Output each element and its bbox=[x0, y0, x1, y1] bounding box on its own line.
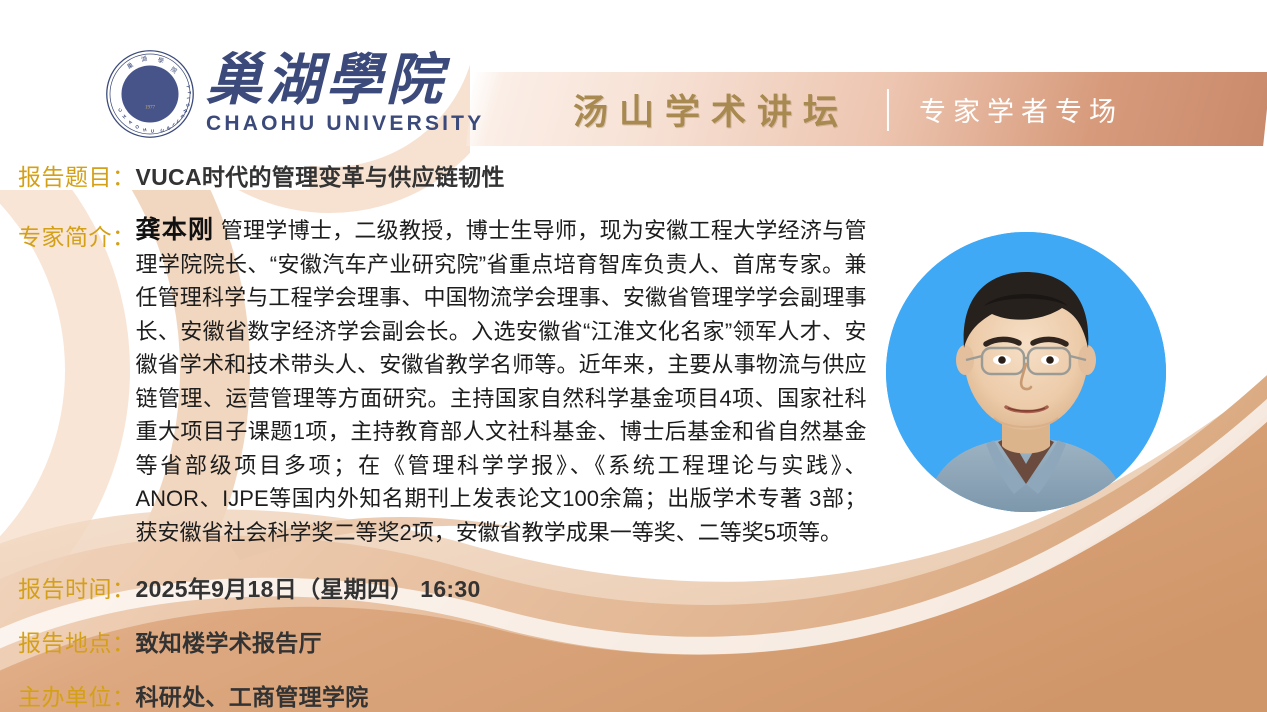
report-time-row: 报告时间： 2025年9月18日（星期四） 16:30 bbox=[18, 570, 481, 604]
report-title-label: 报告题目： bbox=[18, 158, 136, 192]
svg-text:U: U bbox=[151, 129, 155, 134]
forum-banner-inner: 汤山学术讲坛 专家学者专场 bbox=[573, 84, 1123, 135]
svg-text:巢: 巢 bbox=[125, 61, 135, 71]
forum-subtitle: 专家学者专场 bbox=[919, 90, 1123, 129]
report-time-label: 报告时间： bbox=[18, 570, 136, 604]
svg-text:O: O bbox=[135, 124, 141, 130]
report-title-value: VUCA时代的管理变革与供应链韧性 bbox=[136, 158, 505, 192]
svg-text:湖: 湖 bbox=[140, 54, 148, 63]
svg-text:Y: Y bbox=[185, 85, 190, 89]
report-title-row: 报告题目： VUCA时代的管理变革与供应链韧性 bbox=[18, 158, 505, 192]
forum-banner: 汤山学术讲坛 专家学者专场 bbox=[466, 72, 1267, 146]
svg-text:S: S bbox=[185, 103, 191, 108]
svg-text:U: U bbox=[160, 128, 165, 134]
speaker-bio-row: 专家简介： 龚本刚 管理学博士，二级教授，博士生导师，现为安徽工程大学经济与管理… bbox=[18, 214, 867, 549]
svg-text:C: C bbox=[117, 107, 123, 113]
university-logo: 1977 巢 湖 學 院 C H A O H U U N I V E R S bbox=[104, 48, 484, 140]
report-place-value: 致知楼学术报告厅 bbox=[136, 624, 322, 658]
svg-text:E: E bbox=[180, 114, 186, 120]
svg-text:1977: 1977 bbox=[145, 105, 156, 111]
seminar-poster: 1977 巢 湖 學 院 C H A O H U U N I V E R S bbox=[0, 0, 1267, 712]
svg-text:學: 學 bbox=[157, 56, 165, 65]
svg-text:H: H bbox=[121, 113, 127, 119]
svg-text:院: 院 bbox=[169, 65, 178, 75]
forum-title: 汤山学术讲坛 bbox=[573, 84, 849, 135]
speaker-portrait-image bbox=[886, 232, 1166, 512]
report-host-label: 主办单位： bbox=[18, 678, 136, 712]
report-time-value: 2025年9月18日（星期四） 16:30 bbox=[136, 570, 481, 604]
report-host-value: 科研处、工商管理学院 bbox=[136, 678, 369, 712]
speaker-bio-body: 龚本刚 管理学博士，二级教授，博士生导师，现为安徽工程大学经济与管理学院院长、“… bbox=[136, 214, 867, 549]
svg-text:A: A bbox=[128, 119, 134, 125]
speaker-bio-text: 管理学博士，二级教授，博士生导师，现为安徽工程大学经济与管理学院院长、“安徽汽车… bbox=[136, 218, 867, 545]
logo-english-name: CHAOHU UNIVERSITY bbox=[206, 112, 484, 136]
logo-chinese-name: 巢湖學院 bbox=[206, 53, 484, 109]
speaker-name: 龚本刚 bbox=[136, 216, 215, 244]
speaker-bio-label: 专家简介： bbox=[18, 214, 136, 252]
forum-divider bbox=[887, 88, 889, 130]
speaker-portrait bbox=[886, 232, 1166, 512]
svg-text:I: I bbox=[186, 97, 191, 99]
report-place-row: 报告地点： 致知楼学术报告厅 bbox=[18, 624, 322, 658]
logo-wordmark: 巢湖學院 CHAOHU UNIVERSITY bbox=[206, 53, 484, 136]
report-place-label: 报告地点： bbox=[18, 624, 136, 658]
svg-text:H: H bbox=[143, 127, 148, 133]
report-host-row: 主办单位： 科研处、工商管理学院 bbox=[18, 678, 369, 712]
svg-text:T: T bbox=[187, 91, 192, 94]
chaohu-university-seal-icon: 1977 巢 湖 學 院 C H A O H U U N I V E R S bbox=[104, 48, 196, 140]
